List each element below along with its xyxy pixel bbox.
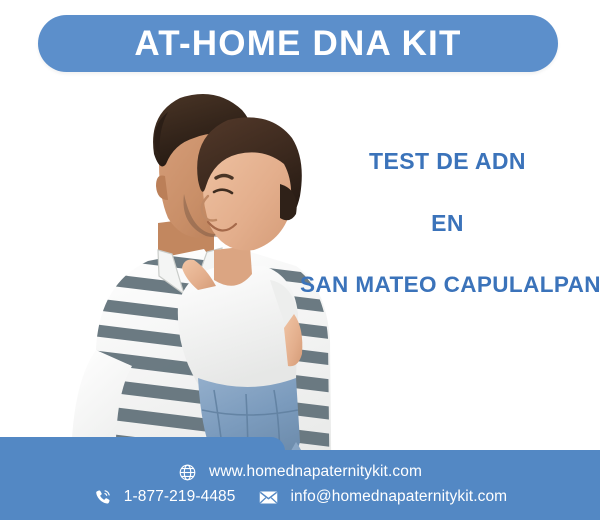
footer-row-website: www.homednapaternitykit.com bbox=[178, 463, 422, 482]
father-and-toddler-photo bbox=[8, 78, 338, 453]
header-banner: AT-HOME DNA KIT bbox=[38, 15, 558, 72]
dna-kit-promo-poster: AT-HOME DNA KIT bbox=[0, 0, 600, 520]
phone-text: 1-877-219-4485 bbox=[124, 489, 236, 505]
footer-row-phone-email: 1-877-219-4485 info@homednapaternitykit.… bbox=[93, 487, 507, 508]
website-text: www.homednapaternitykit.com bbox=[209, 464, 422, 480]
globe-icon bbox=[178, 463, 197, 482]
headline-line-2: EN bbox=[300, 212, 595, 235]
header-title: AT-HOME DNA KIT bbox=[134, 26, 461, 61]
website-item[interactable]: www.homednapaternitykit.com bbox=[178, 463, 422, 482]
email-text: info@homednapaternitykit.com bbox=[291, 489, 508, 505]
footer-contact-info: www.homednapaternitykit.com 1-877-219-44… bbox=[0, 450, 600, 520]
phone-item[interactable]: 1-877-219-4485 bbox=[93, 488, 236, 507]
headline-block: TEST DE ADN EN SAN MATEO CAPULALPAN bbox=[300, 150, 595, 297]
email-item[interactable]: info@homednapaternitykit.com bbox=[258, 487, 508, 508]
headline-line-3: SAN MATEO CAPULALPAN bbox=[300, 274, 595, 297]
envelope-icon bbox=[258, 487, 279, 508]
phone-icon bbox=[93, 488, 112, 507]
headline-line-1: TEST DE ADN bbox=[300, 150, 595, 173]
